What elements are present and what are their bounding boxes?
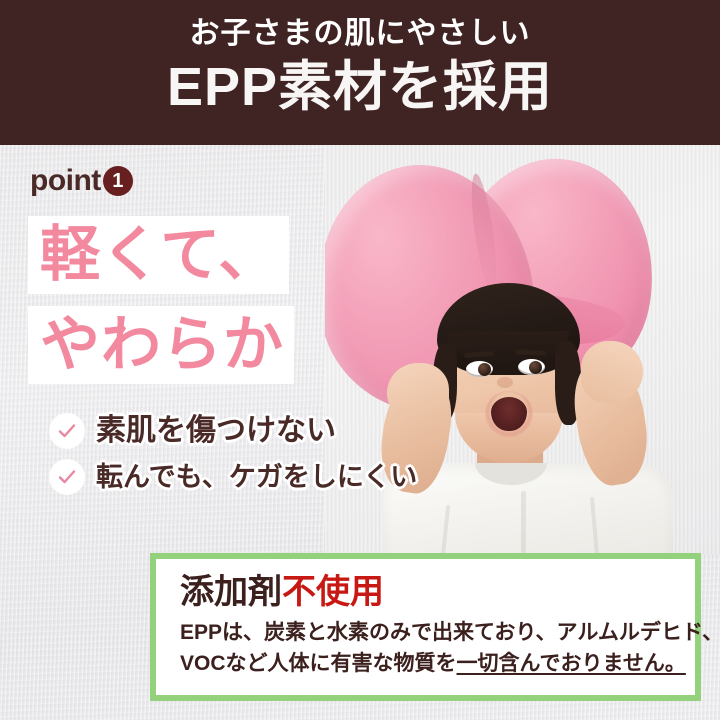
child-mouth [491,397,527,431]
check-icon [50,414,84,448]
list-item: 素肌を傷つけない [50,414,417,448]
callout-body-line-2: VOCなど人体に有害な物質を一切含んでおりません。 [180,648,679,679]
promo-banner: お子さまの肌にやさしい EPP素材を採用 point 1 軽くて、 やわらか 素… [0,0,720,720]
feature-checklist: 素肌を傷つけない 転んでも、ケガをしにくい [50,414,417,494]
callout-body-line-1: EPPは、炭素と水素のみで出来ており、アルムルデヒド、 [180,617,679,648]
point-word: point [30,166,101,196]
headline-line-1: 軽くて、 [28,216,289,294]
child-nose [497,377,513,388]
callout-heading-red: 不使用 [282,573,384,611]
headline-line-2: やわらか [28,306,294,384]
header-banner: お子さまの肌にやさしい EPP素材を採用 [0,0,720,145]
child-hand-right [581,341,643,403]
point-label: point 1 [30,166,133,196]
callout-body-line-2-underlined: 一切含んでおりません。 [457,652,686,675]
list-item: 転んでも、ケガをしにくい [50,460,417,494]
child-eye-right [518,359,545,375]
callout-body-line-2-pre: VOCなど人体に有害な物質を [180,652,457,675]
callout-heading: 添加剤不使用 [180,571,679,613]
page-title: EPP素材を採用 [0,52,720,122]
tshirt-fold [521,491,526,555]
checklist-label: 転んでも、ケガをしにくい [96,460,417,494]
header-subtitle: お子さまの肌にやさしい [0,14,720,54]
check-icon [50,460,84,494]
callout-heading-dark: 添加剤 [180,573,282,611]
child-eye-left [466,361,493,377]
point-number-badge: 1 [103,166,133,196]
additive-free-callout: 添加剤不使用 EPPは、炭素と水素のみで出来ており、アルムルデヒド、 VOCなど… [150,553,701,701]
checklist-label: 素肌を傷つけない [96,414,336,448]
